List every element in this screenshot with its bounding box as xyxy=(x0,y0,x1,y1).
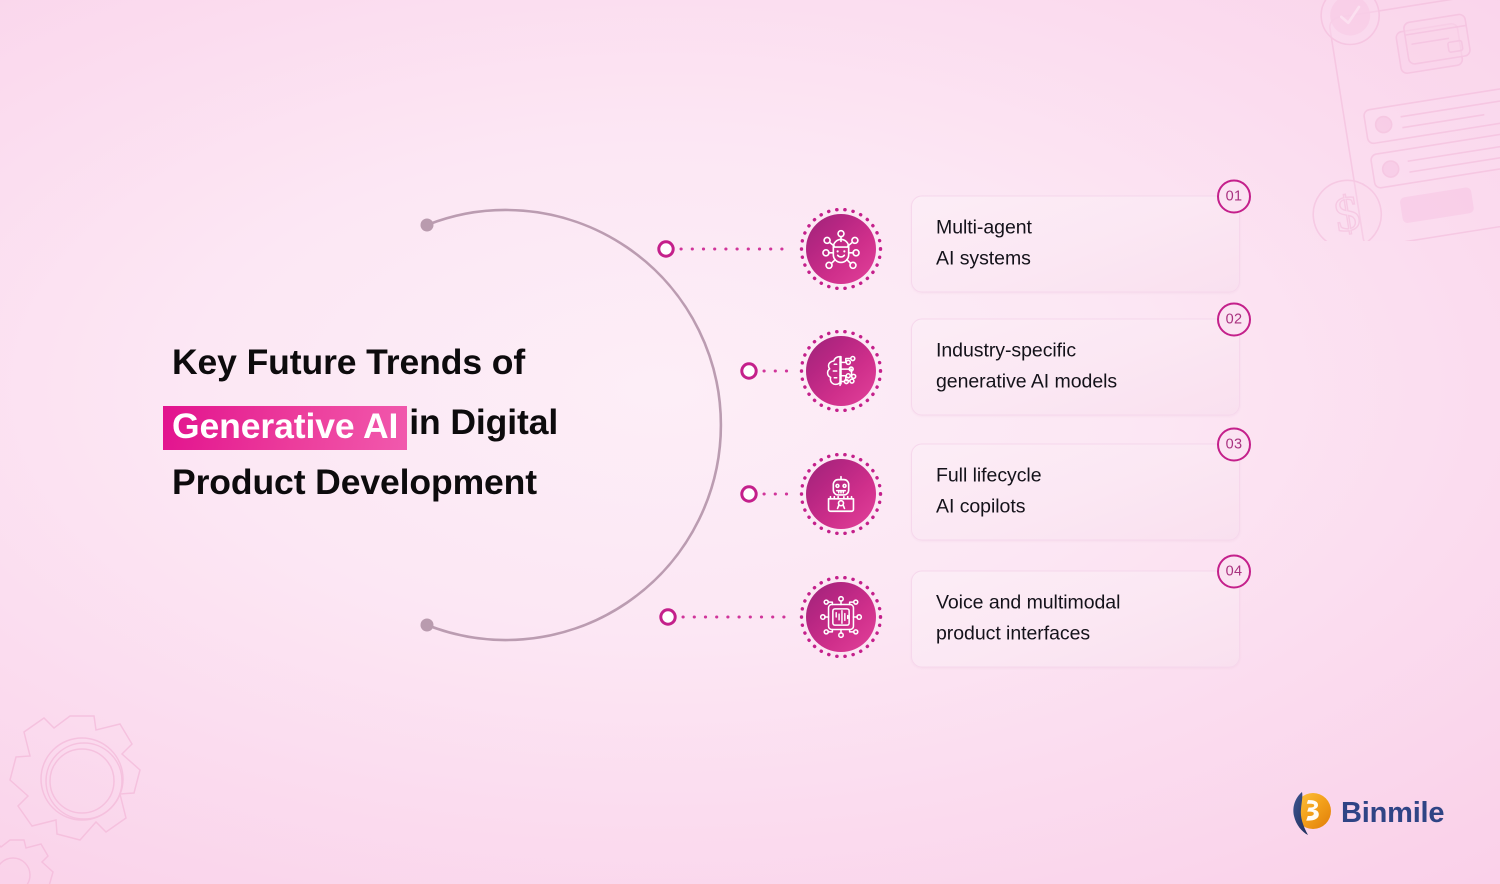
trend-card-3[interactable]: Full lifecycle AI copilots 03 xyxy=(911,444,1240,541)
chip-waveform-icon xyxy=(806,582,876,652)
trend-number-badge-1: 01 xyxy=(1217,180,1251,214)
trend-card-text-3: Full lifecycle AI copilots xyxy=(936,461,1217,523)
arc-node-2 xyxy=(742,364,756,378)
arc-node-layer xyxy=(0,0,1500,884)
trend-icon-badge-3[interactable] xyxy=(798,451,884,537)
arc-node-4 xyxy=(661,610,675,624)
arc-node-1 xyxy=(659,242,673,256)
trend-number-badge-3: 03 xyxy=(1217,428,1251,462)
binmile-mark-icon xyxy=(1288,790,1332,836)
trend-number-badge-2: 02 xyxy=(1217,303,1251,337)
infographic-canvas: $ Key Future Trends of Generative AIin D… xyxy=(0,0,1500,884)
trend-card-text-2: Industry-specific generative AI models xyxy=(936,336,1217,398)
trend-icon-badge-4[interactable] xyxy=(798,574,884,660)
trend-card-text-1: Multi-agent AI systems xyxy=(936,213,1217,275)
brand-logo[interactable]: Binmile xyxy=(1288,790,1444,836)
ai-brain-circuit-icon xyxy=(806,336,876,406)
trend-card-2[interactable]: Industry-specific generative AI models 0… xyxy=(911,319,1240,416)
trend-number-badge-4: 04 xyxy=(1217,555,1251,589)
trend-card-1[interactable]: Multi-agent AI systems 01 xyxy=(911,196,1240,293)
trend-card-text-4: Voice and multimodal product interfaces xyxy=(936,588,1217,650)
trend-icon-badge-2[interactable] xyxy=(798,328,884,414)
robot-copilot-desk-icon xyxy=(806,459,876,529)
trend-card-4[interactable]: Voice and multimodal product interfaces … xyxy=(911,571,1240,668)
brand-wordmark: Binmile xyxy=(1341,797,1444,830)
arc-node-3 xyxy=(742,487,756,501)
trend-icon-badge-1[interactable] xyxy=(798,206,884,292)
multi-agent-bot-network-icon xyxy=(806,214,876,284)
